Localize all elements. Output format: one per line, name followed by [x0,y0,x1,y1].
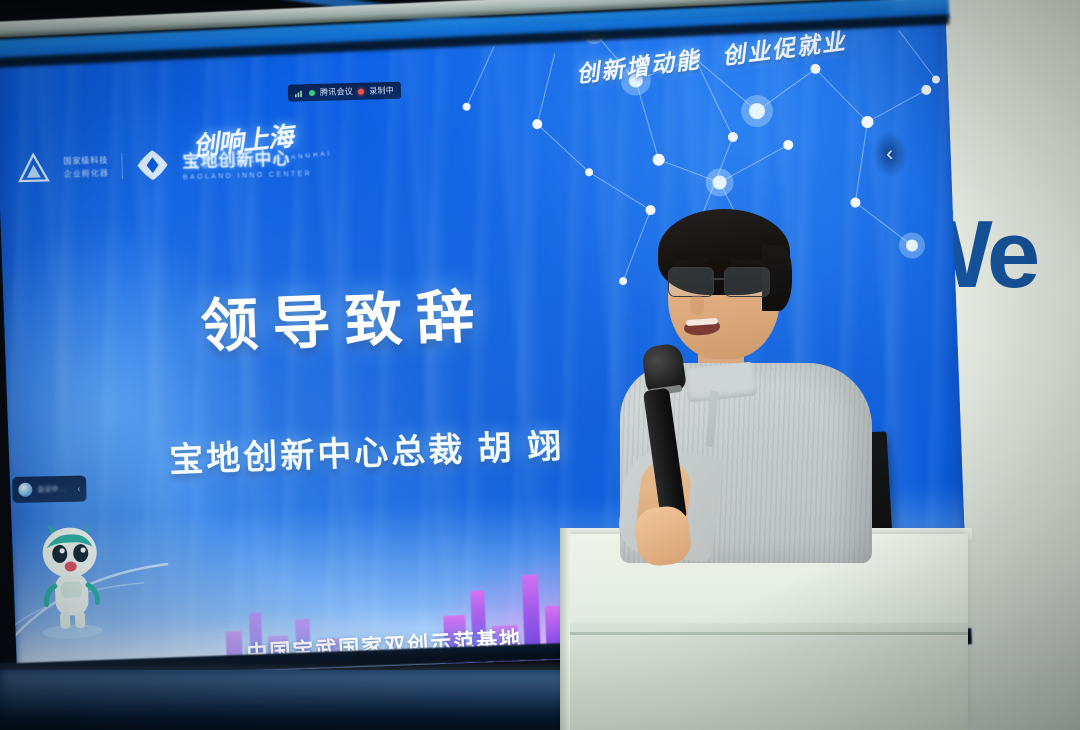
logo-divider [121,153,123,179]
presentation-scene: W​e [0,0,1080,730]
podium-seam [568,632,968,635]
org-line-2: 企业孵化器 [64,167,109,179]
lens-right [724,267,770,297]
baoland-mark-icon [135,148,170,183]
hand [633,504,693,567]
nose [690,295,704,315]
podium-left-edge [560,528,570,730]
speaker [612,215,892,545]
meeting-status-bar: 腾讯会议 录制中 [288,82,402,102]
mascot-overlay-chip[interactable]: 会议中… ‹ [12,476,86,503]
shirt-collar [684,361,757,402]
red-recording-dot [358,88,364,94]
chevron-left-nav-button[interactable]: ‹ [872,131,908,178]
glasses-bridge [711,278,725,280]
wifi-icon [295,89,304,97]
incubator-logo-text: 国家级科技 企业孵化器 [63,155,109,180]
slide-title: 领导致辞 [199,269,490,363]
incubator-logo-icon [16,151,51,186]
meeting-app-label: 腾讯会议 [320,86,353,98]
wall-logo-e: e [987,201,1036,308]
user-avatar [18,483,32,497]
recording-label: 录制中 [369,85,394,97]
eyeglasses [668,267,784,297]
dragon-mascot [25,506,116,641]
lens-left [668,267,714,297]
chevron-left-icon[interactable]: ‹ [77,484,80,494]
green-status-dot [309,89,315,95]
chip-label: 会议中… [37,484,72,495]
org-line-1: 国家级科技 [63,155,108,167]
